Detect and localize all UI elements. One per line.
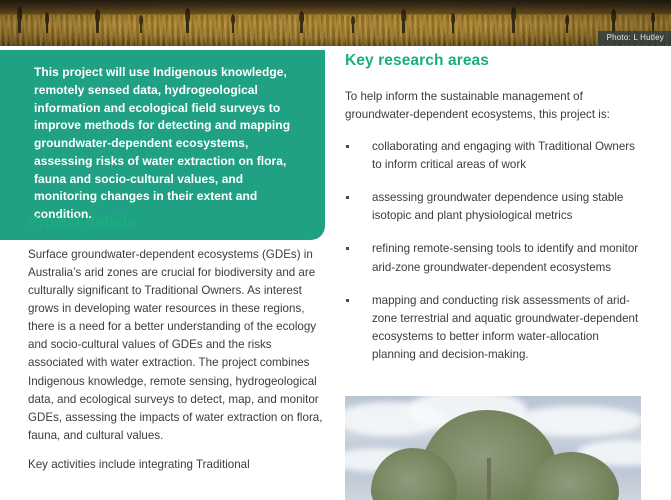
project-summary-text: This project will use Indigenous knowled…: [34, 64, 307, 224]
bullet-square-icon: [346, 299, 349, 302]
list-item-label: refining remote-sensing tools to identif…: [372, 242, 638, 273]
key-research-areas-column: Key research areas To help inform the su…: [345, 52, 645, 364]
list-item: mapping and conducting risk assessments …: [345, 292, 645, 364]
tree-photo: [345, 396, 641, 500]
banner-photo-credit: Photo: L Hutley: [598, 31, 671, 45]
list-item-label: mapping and conducting risk assessments …: [372, 294, 638, 361]
banner-vignette: [0, 0, 671, 46]
key-research-areas-heading: Key research areas: [345, 52, 645, 70]
project-details-paragraph-1: Surface groundwater-dependent ecosystems…: [28, 246, 324, 445]
project-details-column: Project details Surface groundwater-depe…: [28, 214, 324, 474]
list-item: collaborating and engaging with Traditio…: [345, 138, 645, 174]
key-research-areas-intro: To help inform the sustainable managemen…: [345, 88, 645, 124]
bullet-square-icon: [346, 196, 349, 199]
project-details-heading: Project details: [28, 214, 324, 232]
bullet-square-icon: [346, 247, 349, 250]
bullet-square-icon: [346, 145, 349, 148]
key-research-areas-list: collaborating and engaging with Traditio…: [345, 138, 645, 364]
list-item-label: assessing groundwater dependence using s…: [372, 191, 623, 222]
list-item-label: collaborating and engaging with Traditio…: [372, 140, 635, 171]
project-summary-callout: This project will use Indigenous knowled…: [0, 50, 325, 240]
banner-photo: Photo: L Hutley: [0, 0, 671, 46]
list-item: refining remote-sensing tools to identif…: [345, 240, 645, 276]
list-item: assessing groundwater dependence using s…: [345, 189, 645, 225]
tree-trunk: [487, 458, 491, 500]
project-details-paragraph-2: Key activities include integrating Tradi…: [28, 456, 324, 474]
